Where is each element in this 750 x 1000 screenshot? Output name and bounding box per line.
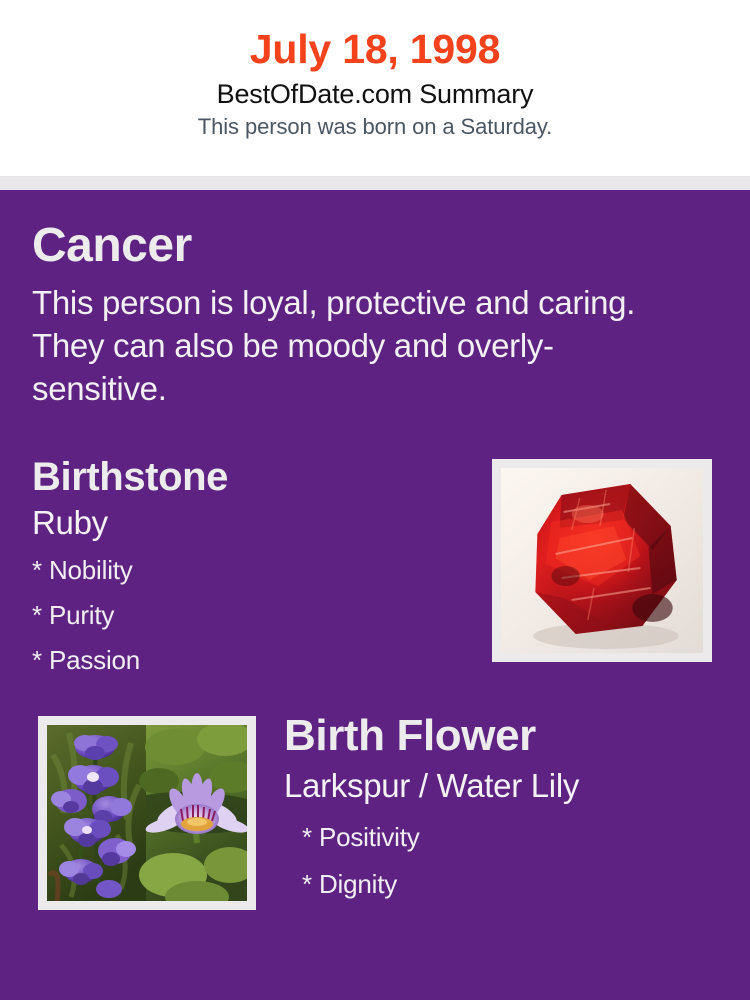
birthstone-photo-frame <box>492 459 712 662</box>
ruby-illustration <box>501 468 703 653</box>
zodiac-description: This person is loyal, protective and car… <box>32 275 662 410</box>
list-item: * Positivity <box>302 814 744 861</box>
birth-flower-photo-frame <box>38 716 256 910</box>
summary-card: July 18, 1998 BestOfDate.com Summary Thi… <box>0 0 750 1000</box>
birth-flower-traits: * Positivity * Dignity <box>284 814 744 908</box>
birth-flower-text: Birth Flower Larkspur / Water Lily * Pos… <box>284 708 744 908</box>
list-item: * Dignity <box>302 861 744 908</box>
card-header: July 18, 1998 BestOfDate.com Summary Thi… <box>0 0 750 176</box>
birth-flower-name: Larkspur / Water Lily <box>284 764 744 808</box>
header-divider <box>0 176 750 190</box>
birth-day-note: This person was born on a Saturday. <box>0 112 750 142</box>
larkspur-and-water-lily-photo <box>47 725 247 901</box>
site-name: BestOfDate.com Summary <box>0 76 750 112</box>
zodiac-sign-title: Cancer <box>32 190 718 275</box>
flowers-illustration <box>47 725 247 901</box>
page-title-date: July 18, 1998 <box>0 22 750 76</box>
birthstone-section: Birthstone Ruby * Nobility * Purity * Pa… <box>32 452 718 683</box>
ruby-gemstone-photo <box>501 468 703 653</box>
birth-flower-section: Birth Flower Larkspur / Water Lily * Pos… <box>32 708 718 908</box>
summary-panel: Cancer This person is loyal, protective … <box>0 190 750 1000</box>
birth-flower-title: Birth Flower <box>284 708 744 764</box>
